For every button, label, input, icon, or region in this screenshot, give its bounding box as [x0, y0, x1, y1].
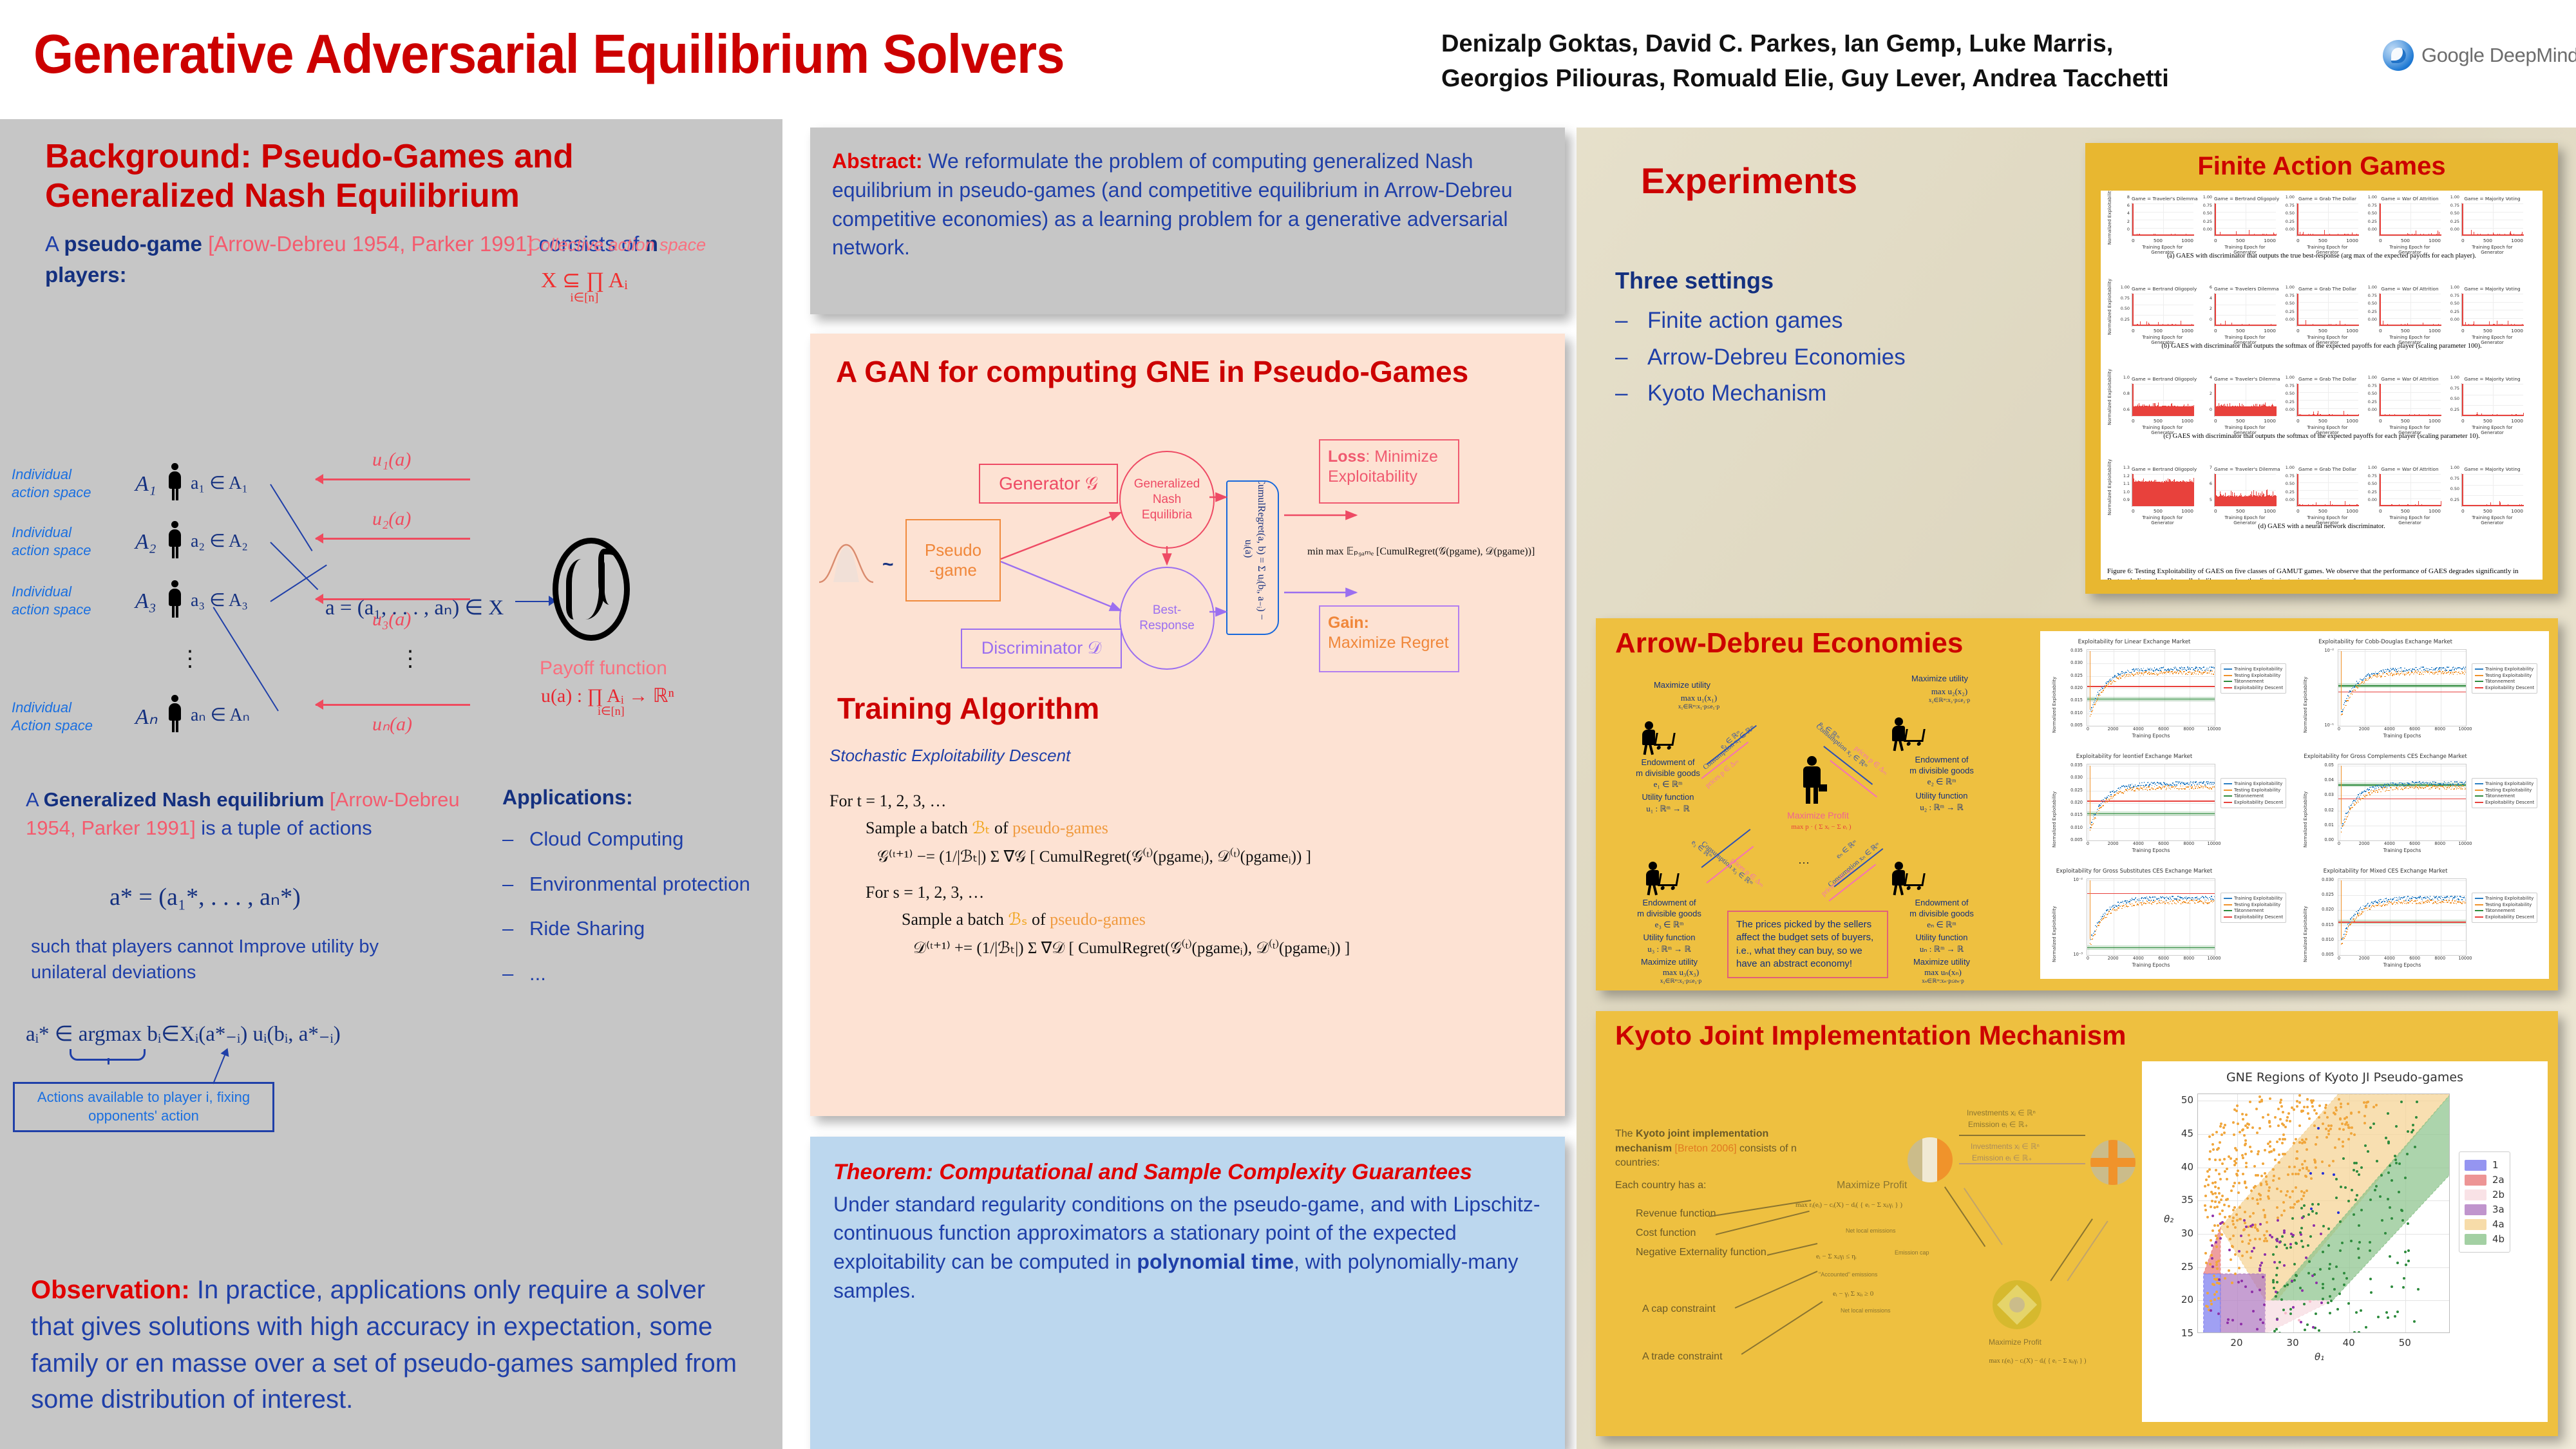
- kyoto-data-point: [2312, 1326, 2315, 1329]
- aggregation-line-1: [270, 484, 312, 551]
- finite-y-tick: 0.50: [2112, 306, 2130, 311]
- action-membership-n: aₙ ∈ Aₙ: [191, 704, 250, 726]
- arrow-debreu-title: Arrow-Debreu Economies: [1615, 627, 1963, 659]
- action-membership-2: a₂ ∈ A₂: [191, 530, 248, 552]
- finite-chart-plot: [2461, 203, 2523, 236]
- kyoto-data-point: [2246, 1197, 2249, 1200]
- finite-y-tick: 1.00: [2277, 285, 2295, 290]
- finite-chart-title: Game = Grab The Dollar: [2297, 466, 2358, 472]
- finite-y-tick: 0.25: [2442, 309, 2459, 314]
- kyoto-data-point: [2291, 1173, 2294, 1175]
- kyoto-x-tick: 50: [2394, 1337, 2415, 1349]
- kyoto-data-point: [2296, 1100, 2298, 1103]
- finite-y-tick: 0.25: [2277, 399, 2295, 404]
- finite-y-tick: 0.75: [2442, 293, 2459, 298]
- ad-max-eq-n: max uₙ(xₙ) xₙ∈ℝᵐ:xₙ·p≤eₙ·p: [1875, 967, 2011, 985]
- finite-chart-title: Game = Traveler's Dilemma: [2132, 196, 2193, 202]
- ad-x-tick: 8000: [2181, 726, 2197, 732]
- action-set-symbol-2: A₂: [135, 530, 156, 554]
- ad-legend-entry: Tâtonnement: [2475, 679, 2534, 684]
- kyoto-data-point: [2242, 1118, 2244, 1121]
- kyoto-data-point: [2210, 1300, 2212, 1302]
- kyoto-data-point: [2256, 1328, 2259, 1331]
- payoff-arrow: [515, 601, 551, 602]
- kyoto-data-point: [2387, 1198, 2389, 1200]
- finite-x-tick: 500: [2401, 238, 2410, 243]
- utility-arrow-1: [316, 478, 470, 480]
- kyoto-data-point: [2226, 1198, 2229, 1200]
- page-title: Generative Adversarial Equilibrium Solve…: [33, 23, 1065, 86]
- ad-y-tick: 0.010: [2054, 710, 2083, 715]
- ad-legend-label: Exploitability Descent: [2234, 685, 2283, 690]
- finite-x-tick: 0: [2379, 418, 2382, 424]
- theorem-panel: Theorem: Computational and Sample Comple…: [810, 1137, 1565, 1449]
- kyoto-data-point: [2235, 1158, 2238, 1160]
- ad-y-tick: 0.015: [2054, 812, 2083, 817]
- poster-header: Generative Adversarial Equilibrium Solve…: [0, 0, 2576, 119]
- kyoto-data-point: [2345, 1116, 2348, 1119]
- kyoto-data-point: [2320, 1302, 2323, 1304]
- kyoto-data-point: [2282, 1153, 2284, 1155]
- kyoto-data-point: [2302, 1245, 2304, 1248]
- finite-x-tick: 0: [2379, 328, 2382, 334]
- ad-x-tick: 4000: [2382, 841, 2397, 846]
- ad-y-tick: 0.005: [2054, 837, 2083, 842]
- kyoto-data-point: [2273, 1330, 2276, 1332]
- ad-legend-entry: Testing Exploitability: [2475, 788, 2534, 793]
- kyoto-data-point: [2335, 1178, 2338, 1180]
- ad-legend-entry: Training Exploitability: [2224, 896, 2283, 901]
- finite-chart-title: Game = Bertrand Oligopoly: [2132, 286, 2193, 292]
- kyoto-data-point: [2286, 1247, 2288, 1249]
- finite-chart-plot: [2461, 383, 2523, 417]
- seller-icon: [1798, 756, 1826, 804]
- kyoto-data-point: [2306, 1166, 2308, 1169]
- finite-chart-cell: Game = War Of Attrition1.000.750.500.250…: [2379, 286, 2441, 345]
- kyoto-data-point: [2210, 1239, 2212, 1242]
- finite-chart-cell: Game = Travelers Dilemma642005001000Trai…: [2214, 286, 2276, 345]
- ireland-flag-icon: [1908, 1137, 1953, 1182]
- kyoto-data-point: [2340, 1106, 2342, 1108]
- kyoto-data-point: [2213, 1274, 2215, 1277]
- finite-y-tick: 0.9: [2112, 497, 2130, 502]
- pseudo-game-citation: [Arrow-Debreu 1954, Parker 1991]: [202, 232, 533, 256]
- kyoto-data-point: [2305, 1256, 2307, 1259]
- brazil-flag-icon: [1993, 1280, 2041, 1329]
- loss-out-arrow: [1284, 506, 1368, 526]
- kyoto-data-point: [2322, 1251, 2324, 1253]
- kyoto-data-point: [2363, 1115, 2366, 1117]
- ad-chart-legend: Training ExploitabilityTesting Exploitab…: [2472, 893, 2537, 923]
- application-item-0: –Cloud Computing: [502, 826, 760, 852]
- kyoto-data-point: [2251, 1250, 2253, 1253]
- ad-y-tick: 0.030: [2054, 660, 2083, 665]
- ad-x-tick: 8000: [2432, 726, 2448, 732]
- kyoto-data-point: [2372, 1106, 2375, 1108]
- ad-max-eq-2: max u₂(x₂) x₂∈ℝᵐ:x₂·p≤e₂·p: [1875, 687, 2023, 704]
- kyoto-data-point: [2350, 1132, 2353, 1135]
- finite-y-tick: 0.25: [2360, 309, 2377, 314]
- kyoto-data-point: [2235, 1110, 2238, 1112]
- ad-x-tick: 0: [2080, 956, 2096, 961]
- finite-x-tick: 1000: [2511, 328, 2523, 334]
- finite-x-tick: 1000: [2264, 418, 2276, 424]
- ad-y-tick: 0.025: [2054, 673, 2083, 678]
- logo-label: Google DeepMind: [2421, 44, 2576, 67]
- kyoto-data-point: [2287, 1112, 2290, 1115]
- kyoto-data-point: [2260, 1262, 2263, 1264]
- ad-legend-entry: Exploitability Descent: [2224, 800, 2283, 805]
- finite-y-tick: 0.00: [2360, 317, 2377, 322]
- finite-chart-plot: [2297, 383, 2358, 417]
- ad-y-tick: 0.01: [2306, 822, 2334, 828]
- kyoto-data-point: [2297, 1173, 2300, 1175]
- finite-y-tick: 1.00: [2112, 285, 2130, 290]
- kyoto-data-point: [2254, 1226, 2257, 1229]
- utility-label-1: u₁(a): [372, 449, 411, 471]
- kyoto-data-point: [2218, 1278, 2221, 1281]
- kyoto-cap-label: Emission cap: [1895, 1249, 1929, 1256]
- kyoto-data-point: [2242, 1128, 2244, 1131]
- finite-y-tick: 0: [2195, 407, 2212, 412]
- kyoto-data-point: [2257, 1202, 2259, 1205]
- kyoto-pointer-3: [1767, 1243, 1817, 1255]
- ad-x-tick: 2000: [2356, 726, 2372, 732]
- kyoto-data-point: [2275, 1291, 2277, 1293]
- gne-to-br-arrow: [1158, 546, 1177, 572]
- gne-argmax-equation: aᵢ* ∈ argmax bᵢ∈Xᵢ(a*₋ᵢ) uᵢ(bᵢ, a*₋ᵢ): [26, 1021, 341, 1046]
- gne-term: Generalized Nash equilibrium: [44, 788, 325, 811]
- finite-y-tick: 0.25: [2277, 309, 2295, 314]
- finite-x-tick: 500: [2483, 418, 2492, 424]
- kyoto-profit-eq-1: max rᵢ(eᵢ) − cᵢ(X) − dᵢ( { eᵢ − Σ xⱼᵢγᵢ …: [1768, 1200, 1929, 1209]
- ad-chart-cell: Exploitability for Cobb-Douglas Exchange…: [2302, 639, 2540, 645]
- best-response-circle-node: Best- Response: [1119, 567, 1215, 670]
- ad-x-tick: 4000: [2382, 956, 2397, 961]
- kyoto-data-point: [2363, 1122, 2366, 1124]
- ad-x-tick: 6000: [2156, 726, 2172, 732]
- kyoto-data-point: [2259, 1318, 2262, 1321]
- kyoto-data-point: [2396, 1262, 2399, 1264]
- kyoto-data-point: [2375, 1185, 2378, 1188]
- kyoto-data-point: [2253, 1247, 2255, 1249]
- kyoto-diagram: The Kyoto joint implementation mechanism…: [1606, 1068, 2141, 1419]
- finite-x-tick: 500: [2318, 328, 2327, 334]
- ad-y-tick: 0.025: [2054, 788, 2083, 793]
- kyoto-data-point: [2221, 1233, 2223, 1236]
- finite-row-caption-3: (d) GAES with a neural network discrimin…: [2101, 523, 2543, 530]
- ad-y-tick: 0.010: [2054, 825, 2083, 830]
- finite-chart-title: Game = War Of Attrition: [2379, 466, 2441, 472]
- kyoto-legend-entry: 4a: [2465, 1218, 2505, 1230]
- kyoto-data-point: [2364, 1144, 2367, 1147]
- kyoto-data-point: [2404, 1177, 2407, 1179]
- ad-max-label-2: Maximize utility: [1875, 674, 2004, 685]
- ad-legend-entry: Tâtonnement: [2475, 793, 2534, 799]
- ad-x-tick: 2000: [2105, 726, 2121, 732]
- kyoto-data-point: [2211, 1143, 2214, 1146]
- kyoto-data-point: [2381, 1219, 2383, 1222]
- kyoto-data-point: [2406, 1153, 2409, 1155]
- finite-action-games-panel: Finite Action Games Normalized Exploitab…: [2085, 143, 2558, 594]
- finite-y-tick: 1.00: [2277, 375, 2295, 380]
- kyoto-data-point: [2255, 1174, 2257, 1177]
- finite-y-tick: 0: [2195, 317, 2212, 322]
- ad-y-tick: 0.020: [2054, 685, 2083, 690]
- finite-chart-plot: [2132, 383, 2193, 417]
- finite-chart-plot: [2297, 293, 2358, 327]
- kyoto-emission-label-1: Emission eᵢ ∈ ℝ₊: [1968, 1119, 2029, 1130]
- kyoto-title: Kyoto Joint Implementation Mechanism: [1615, 1020, 2126, 1051]
- kyoto-item-4: A trade constraint: [1642, 1350, 1723, 1365]
- ad-legend-label: Tâtonnement: [2234, 908, 2264, 913]
- player-icon-n: [166, 695, 183, 732]
- player-icon-1: [166, 463, 183, 500]
- finite-y-tick: 8: [2112, 194, 2130, 200]
- observation-key: Observation:: [31, 1276, 190, 1304]
- kyoto-data-point: [2231, 1282, 2233, 1284]
- ad-x-tick: 10000: [2458, 726, 2473, 732]
- kyoto-data-point: [2336, 1308, 2339, 1311]
- kyoto-net-local-1: Net local emissions: [1846, 1227, 1896, 1234]
- ad-y-tick: 0.005: [2306, 952, 2334, 957]
- kyoto-data-point: [2412, 1124, 2414, 1126]
- kyoto-x-axis-label: θ₁: [2315, 1351, 2324, 1363]
- finite-y-tick: 0.50: [2360, 211, 2377, 216]
- kyoto-data-point: [2329, 1295, 2331, 1298]
- ad-y-tick: 0.035: [2054, 648, 2083, 653]
- kyoto-data-point: [2230, 1258, 2232, 1261]
- kyoto-plot-area: [2197, 1094, 2450, 1333]
- finite-y-tick: 0.75: [2442, 476, 2459, 481]
- kyoto-data-point: [2235, 1213, 2238, 1216]
- kyoto-data-point: [2240, 1235, 2242, 1237]
- finite-chart-title: Game = Grab The Dollar: [2297, 286, 2358, 292]
- pseudo-game-term: pseudo-game: [64, 232, 202, 256]
- finite-y-tick: 2: [2112, 219, 2130, 224]
- ad-x-tick: 2000: [2105, 956, 2121, 961]
- ad-legend-entry: Exploitability Descent: [2475, 685, 2534, 690]
- ad-chart-legend: Training ExploitabilityTesting Exploitab…: [2221, 663, 2286, 694]
- finite-x-tick: 500: [2318, 508, 2327, 514]
- kyoto-data-point: [2210, 1206, 2212, 1208]
- gain-out-arrow: [1284, 583, 1368, 603]
- kyoto-data-point: [2208, 1158, 2211, 1160]
- finite-x-tick: 500: [2236, 418, 2245, 424]
- kyoto-data-point: [2347, 1138, 2350, 1141]
- kyoto-cap-eq: eᵢ − Σ xᵢⱼγⱼ ≤ ηᵢ: [1816, 1252, 1857, 1260]
- finite-x-tick: 1000: [2346, 508, 2358, 514]
- ad-legend-label: Training Exploitability: [2485, 896, 2533, 901]
- kyoto-data-point: [2367, 1101, 2369, 1103]
- kyoto-data-point: [2293, 1263, 2296, 1265]
- kyoto-data-point: [2356, 1194, 2358, 1197]
- kyoto-data-point: [2280, 1298, 2283, 1301]
- ad-chart-plot: [2338, 878, 2467, 956]
- ad-chart-cell: Exploitability for Linear Exchange Marke…: [2050, 639, 2289, 645]
- kyoto-data-point: [2252, 1212, 2255, 1215]
- ad-utility-eq-3: u₃ : ℝᵐ → ℝ: [1611, 944, 1727, 954]
- kyoto-data-point: [2320, 1233, 2322, 1235]
- finite-y-tick: 0.00: [2277, 407, 2295, 412]
- finite-y-tick: 2: [2195, 306, 2212, 311]
- finite-y-tick: 6: [2195, 481, 2212, 486]
- kyoto-data-point: [2291, 1106, 2293, 1109]
- finite-y-tick: 1.1: [2112, 481, 2130, 486]
- finite-y-tick: 1.00: [2360, 285, 2377, 290]
- kyoto-data-point: [2229, 1238, 2231, 1240]
- kyoto-data-point: [2248, 1242, 2250, 1245]
- kyoto-data-point: [2282, 1332, 2285, 1333]
- finite-y-tick: 1.0: [2112, 375, 2130, 380]
- ad-y-tick: 0.010: [2306, 937, 2334, 942]
- kyoto-y-tick: 35: [2172, 1194, 2193, 1206]
- kyoto-data-point: [2357, 1247, 2360, 1250]
- gne-condition-text: such that players cannot Improve utility…: [31, 934, 443, 985]
- vertical-ellipsis-utilities: ⋮: [399, 646, 422, 672]
- kyoto-pointer-2: [1716, 1211, 1810, 1235]
- finite-chart-cell: Game = Traveler's Dilemma8642005001000Tr…: [2132, 196, 2193, 255]
- ad-endowment-eq-n: eₙ ∈ ℝᵐ: [1880, 920, 2003, 930]
- joint-action-equation: a = (a₁, . . . , aₙ) ∈ X: [325, 594, 504, 620]
- algorithm-for-s: For s = 1, 2, 3, …: [866, 883, 1551, 902]
- callout-arrow: [213, 1054, 226, 1084]
- kyoto-data-point: [2216, 1267, 2219, 1270]
- finite-chart-plot: [2461, 473, 2523, 507]
- ad-legend-entry: Tâtonnement: [2224, 793, 2283, 799]
- observation-text: Observation: In practice, applications o…: [31, 1272, 746, 1418]
- finite-x-tick: 1000: [2181, 508, 2193, 514]
- kyoto-legend-entry: 2b: [2465, 1189, 2505, 1200]
- finite-y-tick: 0.50: [2442, 211, 2459, 216]
- kyoto-data-point: [2324, 1106, 2327, 1109]
- kyoto-data-point: [2295, 1138, 2297, 1141]
- setting-item-1: –Arrow-Debreu Economies: [1615, 344, 1918, 372]
- finite-x-tick: 500: [2483, 508, 2492, 514]
- kyoto-data-point: [2306, 1323, 2309, 1326]
- finite-y-tick: 0.50: [2442, 301, 2459, 306]
- ad-chart-cell: Exploitability for Gross Complements CES…: [2302, 753, 2540, 760]
- finite-y-tick: 0.25: [2360, 489, 2377, 495]
- ad-legend-entry: Testing Exploitability: [2475, 902, 2534, 907]
- abstract-panel: Abstract: We reformulate the problem of …: [810, 128, 1565, 314]
- kyoto-data-point: [2325, 1104, 2327, 1106]
- kyoto-data-point: [2217, 1312, 2220, 1315]
- kyoto-data-point: [2353, 1331, 2356, 1333]
- kyoto-citation: [Breton 2006]: [1672, 1143, 1737, 1154]
- ad-legend-label: Tâtonnement: [2234, 793, 2264, 799]
- kyoto-data-point: [2335, 1109, 2338, 1112]
- finite-x-tick: 0: [2214, 328, 2217, 334]
- kyoto-region-3a: [2221, 1274, 2266, 1333]
- ad-y-tick: 0.03: [2306, 792, 2334, 797]
- deepmind-swirl-icon: [2383, 40, 2414, 71]
- kyoto-data-point: [2338, 1098, 2340, 1101]
- ad-legend-label: Testing Exploitability: [2234, 788, 2280, 793]
- ad-utility-n: Utility function: [1880, 933, 2003, 943]
- finite-x-tick: 1000: [2511, 508, 2523, 514]
- finite-chart-cell: Game = Majority Voting1.000.750.500.2505…: [2461, 466, 2523, 526]
- kyoto-y-axis-label: θ₂: [2164, 1213, 2173, 1225]
- kyoto-data-point: [2278, 1153, 2280, 1156]
- kyoto-legend-label: 4b: [2492, 1233, 2505, 1245]
- kyoto-data-point: [2313, 1109, 2316, 1112]
- kyoto-profit-label-1: Maximize Profit: [1837, 1179, 1907, 1193]
- ad-legend-label: Exploitability Descent: [2234, 800, 2283, 805]
- ad-x-tick: 2000: [2105, 841, 2121, 846]
- ad-x-axis-label: Training Epochs: [2338, 962, 2467, 968]
- ad-y-tick: 10⁻²: [2306, 648, 2334, 653]
- action-set-symbol-3: A₃: [135, 589, 156, 614]
- kyoto-data-point: [2271, 1236, 2273, 1238]
- kyoto-data-point: [2281, 1142, 2284, 1144]
- finite-chart-title: Game = Majority Voting: [2461, 286, 2523, 292]
- ad-legend-label: Testing Exploitability: [2485, 902, 2532, 907]
- ad-x-tick: 6000: [2156, 956, 2172, 961]
- kyoto-data-point: [2251, 1197, 2254, 1200]
- finite-action-games-figure: Normalized ExploitabilityGame = Traveler…: [2101, 191, 2543, 580]
- background-section-title: Background: Pseudo-Games and Generalized…: [45, 137, 728, 216]
- finite-y-tick: 0.75: [2360, 473, 2377, 478]
- kyoto-accounted: "Accounted" emissions: [1819, 1271, 1877, 1278]
- kyoto-data-point: [2358, 1241, 2361, 1244]
- kyoto-data-point: [2221, 1162, 2224, 1165]
- kyoto-data-point: [2207, 1184, 2210, 1186]
- finite-x-tick: 500: [2154, 328, 2163, 334]
- ad-legend-entry: Testing Exploitability: [2475, 673, 2534, 678]
- finite-chart-title: Game = Bertrand Oligopoly: [2214, 196, 2276, 202]
- kyoto-data-point: [2387, 1142, 2390, 1144]
- kyoto-data-point: [2276, 1188, 2278, 1190]
- kyoto-data-point: [2218, 1201, 2221, 1204]
- ad-legend-label: Training Exploitability: [2485, 781, 2533, 786]
- finite-y-tick: 0.75: [2442, 203, 2459, 208]
- ad-legend-entry: Exploitability Descent: [2475, 800, 2534, 805]
- kyoto-data-point: [2350, 1112, 2353, 1115]
- finite-chart-title: Game = War Of Attrition: [2379, 286, 2441, 292]
- finite-x-tick: 0: [2297, 238, 2300, 243]
- finite-row-caption-0: (a) GAES with discriminator that outputs…: [2101, 252, 2543, 260]
- abstract-text: Abstract: We reformulate the problem of …: [832, 147, 1543, 262]
- finite-y-tick: 1.2: [2112, 473, 2130, 478]
- finite-y-tick: 1.00: [2442, 285, 2459, 290]
- kyoto-data-point: [2298, 1141, 2301, 1144]
- finite-x-tick: 1000: [2429, 418, 2441, 424]
- kyoto-data-point: [2233, 1164, 2236, 1166]
- player-icon-3: [166, 580, 183, 618]
- ad-utility-2: Utility function: [1880, 791, 2003, 802]
- finite-chart-cell: Game = Bertrand Oligopoly1.000.750.500.2…: [2132, 286, 2193, 345]
- kyoto-data-point: [2307, 1213, 2310, 1216]
- finite-chart-cell: Game = Traveler's Dilemma76505001000Trai…: [2214, 466, 2276, 526]
- ad-chart-plot: [2338, 649, 2467, 726]
- finite-y-tick: 0.00: [2442, 227, 2459, 232]
- kyoto-data-point: [2281, 1235, 2284, 1238]
- kyoto-data-point: [2276, 1281, 2278, 1283]
- algorithm-generator-update: 𝒢⁽ᵗ⁺¹⁾ −= (1/|ℬₜ|) Σ ∇𝒢 [ CumulRegret(𝒢⁽…: [877, 847, 1551, 866]
- collective-action-space-equation: X ⊆ ∏ Aᵢ i∈[n]: [541, 267, 628, 305]
- kyoto-data-point: [2211, 1200, 2213, 1202]
- kyoto-data-point: [2401, 1219, 2404, 1222]
- kyoto-data-point: [2289, 1120, 2291, 1122]
- kyoto-data-point: [2356, 1170, 2358, 1173]
- kyoto-profit-label-2: Maximize Profit: [1989, 1337, 2041, 1348]
- ad-endowment-eq-2: e₂ ∈ ℝᵐ: [1880, 777, 2003, 787]
- finite-chart-cell: Game = Bertrand Oligopoly1.31.21.11.00.9…: [2132, 466, 2193, 526]
- finite-chart-cell: Game = Grab The Dollar1.000.750.500.250.…: [2297, 466, 2358, 526]
- kyoto-data-point: [2215, 1169, 2217, 1171]
- kyoto-data-point: [2244, 1144, 2246, 1146]
